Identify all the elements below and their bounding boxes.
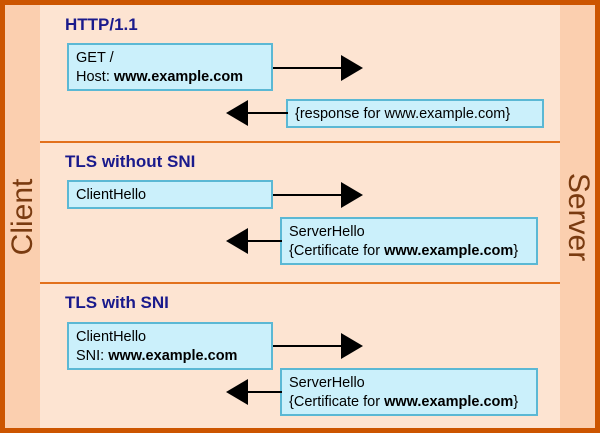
arrow-head-left-icon [226, 100, 248, 126]
message-line: SNI: www.example.com [76, 347, 264, 366]
arrow-client-to-server-tls-nosni [273, 182, 363, 208]
arrow-shaft [246, 240, 282, 242]
section-title-http11: HTTP/1.1 [65, 15, 138, 35]
diagram-stage: HTTP/1.1 GET / Host: www.example.com {re… [40, 5, 560, 428]
arrow-shaft [273, 194, 343, 196]
message-line: ServerHello [289, 374, 529, 393]
message-box-tls-nosni-request: ClientHello [67, 180, 273, 209]
section-http11: HTTP/1.1 GET / Host: www.example.com {re… [40, 5, 560, 141]
message-line: {response for www.example.com} [295, 105, 535, 124]
section-tls-without-sni: TLS without SNI ClientHello ServerHello … [40, 141, 560, 282]
section-divider [40, 141, 560, 143]
message-line: ClientHello [76, 186, 264, 205]
message-line: Host: www.example.com [76, 68, 264, 87]
message-box-tls-nosni-response: ServerHello {Certificate for www.example… [280, 217, 538, 265]
message-box-tls-sni-response: ServerHello {Certificate for www.example… [280, 368, 538, 416]
message-line: {Certificate for www.example.com} [289, 393, 529, 412]
arrow-client-to-server-http [273, 55, 363, 81]
arrow-head-left-icon [226, 379, 248, 405]
arrow-head-right-icon [341, 333, 363, 359]
arrow-server-to-client-tls-sni [226, 379, 282, 405]
arrow-shaft [246, 391, 282, 393]
arrow-server-to-client-http [226, 100, 288, 126]
message-line: GET / [76, 49, 264, 68]
arrow-head-right-icon [341, 182, 363, 208]
message-line: ClientHello [76, 328, 264, 347]
arrow-head-right-icon [341, 55, 363, 81]
arrow-head-left-icon [226, 228, 248, 254]
server-column: Server [560, 5, 595, 428]
arrow-client-to-server-tls-sni [273, 333, 363, 359]
message-box-http-response: {response for www.example.com} [286, 99, 544, 128]
arrow-shaft [273, 345, 343, 347]
client-column: Client [5, 5, 40, 428]
section-title-tls-without-sni: TLS without SNI [65, 152, 195, 172]
client-label: Client [6, 178, 40, 255]
section-tls-with-sni: TLS with SNI ClientHello SNI: www.exampl… [40, 282, 560, 428]
server-label: Server [561, 172, 595, 260]
message-line: {Certificate for www.example.com} [289, 242, 529, 261]
section-divider [40, 282, 560, 284]
sni-diagram: Client Server HTTP/1.1 GET / Host: www.e… [0, 0, 600, 433]
arrow-shaft [273, 67, 343, 69]
arrow-shaft [246, 112, 288, 114]
section-title-tls-with-sni: TLS with SNI [65, 293, 169, 313]
arrow-server-to-client-tls-nosni [226, 228, 282, 254]
message-box-tls-sni-request: ClientHello SNI: www.example.com [67, 322, 273, 370]
message-line: ServerHello [289, 223, 529, 242]
message-box-http-request: GET / Host: www.example.com [67, 43, 273, 91]
